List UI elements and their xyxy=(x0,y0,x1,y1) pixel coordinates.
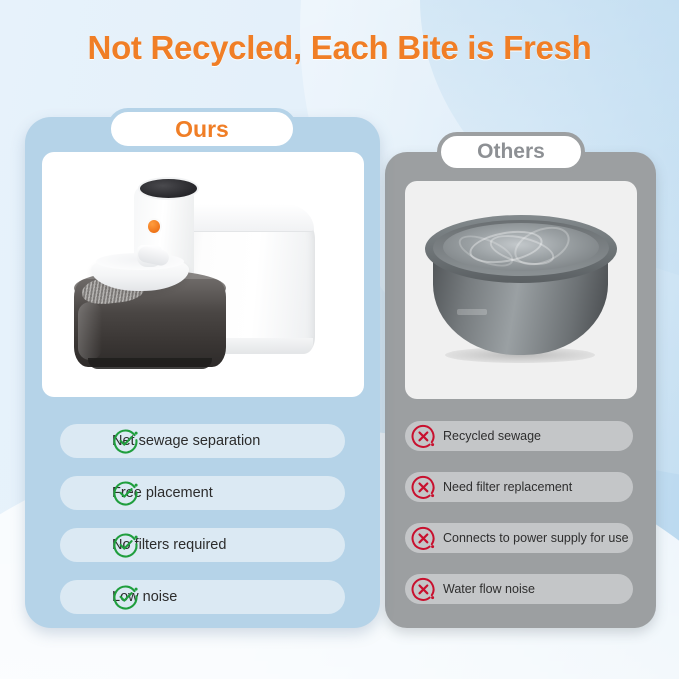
cross-circle-icon xyxy=(411,475,436,500)
list-item[interactable]: Low noise xyxy=(60,580,345,614)
feature-label: Recycled sewage xyxy=(443,429,541,443)
check-circle-icon xyxy=(113,532,139,558)
feature-label: Connects to power supply for use xyxy=(443,531,629,545)
list-item[interactable]: Connects to power supply for use xyxy=(405,523,633,553)
check-circle-icon xyxy=(113,480,139,506)
cross-circle-icon xyxy=(411,424,436,449)
comparison-infographic: Not Recycled, Each Bite is Fresh Others … xyxy=(0,0,679,679)
ours-product-card xyxy=(42,152,364,397)
cross-circle-icon xyxy=(411,526,436,551)
others-badge-label: Others xyxy=(477,140,545,164)
water-tank-lid xyxy=(173,204,314,232)
cross-circle-icon xyxy=(411,577,436,602)
fountain-base-highlight xyxy=(78,302,102,360)
bowl-brand-mark xyxy=(457,309,487,315)
others-feature-list: Recycled sewage Need filter replacement … xyxy=(405,421,633,625)
list-item[interactable]: No filters required xyxy=(60,528,345,562)
ours-badge-label: Ours xyxy=(175,116,229,143)
feature-label: Need filter replacement xyxy=(443,480,572,494)
power-indicator-icon xyxy=(146,218,162,235)
ours-badge: Ours xyxy=(107,108,297,150)
others-product-card xyxy=(405,181,637,399)
list-item[interactable]: Recycled sewage xyxy=(405,421,633,451)
page-title: Not Recycled, Each Bite is Fresh xyxy=(0,29,679,67)
list-item[interactable]: Need filter replacement xyxy=(405,472,633,502)
ours-product-image xyxy=(42,152,364,397)
others-badge: Others xyxy=(437,132,585,172)
list-item[interactable]: Water flow noise xyxy=(405,574,633,604)
bowl-water xyxy=(443,223,599,271)
others-product-image xyxy=(405,181,637,399)
check-circle-icon xyxy=(113,428,139,454)
pump-top-grille-icon xyxy=(138,177,199,200)
check-circle-icon xyxy=(113,584,139,610)
ours-feature-list: Net sewage separation Free placement No … xyxy=(60,424,345,632)
list-item[interactable]: Net sewage separation xyxy=(60,424,345,458)
fountain-base-foot xyxy=(88,358,212,369)
feature-label: Water flow noise xyxy=(443,582,535,596)
list-item[interactable]: Free placement xyxy=(60,476,345,510)
